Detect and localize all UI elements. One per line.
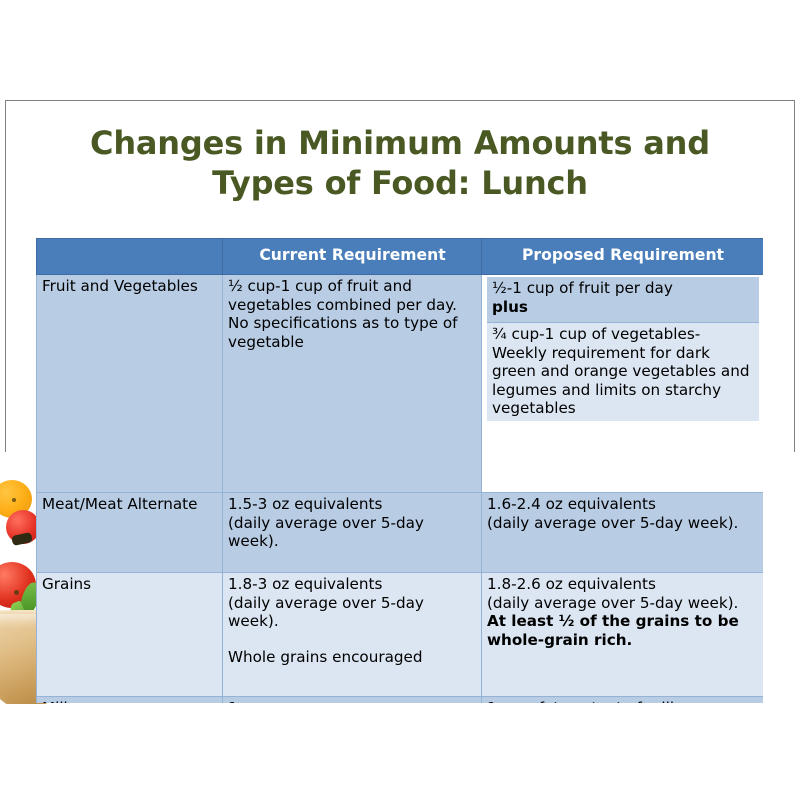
table-row: Grains 1.8-3 oz equivalents (daily avera… bbox=[37, 573, 764, 697]
requirements-table: Current Requirement Proposed Requirement… bbox=[36, 238, 763, 703]
cell-category-meat-alternate: Meat/Meat Alternate bbox=[37, 493, 223, 573]
cell-category-fruit-vegetables: Fruit and Vegetables bbox=[37, 275, 223, 493]
table-header-row: Current Requirement Proposed Requirement bbox=[37, 239, 764, 275]
proposed-fruit-top: ½-1 cup of fruit per day plus bbox=[487, 277, 759, 323]
page-title: Changes in Minimum Amounts and Types of … bbox=[40, 124, 760, 203]
slide-canvas: Changes in Minimum Amounts and Types of … bbox=[0, 0, 800, 800]
proposed-fruit-line1: ½-1 cup of fruit per day bbox=[492, 279, 755, 298]
cell-current-grains: 1.8-3 oz equivalents (daily average over… bbox=[223, 573, 482, 697]
proposed-grains-bold-note: At least ½ of the grains to be whole-gra… bbox=[487, 612, 759, 649]
table-row: Milk 1 cup 1 cup, fat content of milk bbox=[37, 697, 764, 704]
cell-proposed-fruit-vegetables: ½-1 cup of fruit per day plus ¾ cup-1 cu… bbox=[482, 275, 764, 493]
cell-category-grains: Grains bbox=[37, 573, 223, 697]
cell-current-milk: 1 cup bbox=[223, 697, 482, 704]
cell-proposed-milk: 1 cup, fat content of milk bbox=[482, 697, 764, 704]
cell-current-fruit-vegetables: ½ cup-1 cup of fruit and vegetables comb… bbox=[223, 275, 482, 493]
cell-current-meat-alternate: 1.5-3 oz equivalents (daily average over… bbox=[223, 493, 482, 573]
proposed-grains-main: 1.8-2.6 oz equivalents (daily average ov… bbox=[487, 575, 738, 612]
proposed-vegetables-detail: ¾ cup-1 cup of vegetables- Weekly requir… bbox=[487, 323, 759, 421]
table-row: Fruit and Vegetables ½ cup-1 cup of frui… bbox=[37, 275, 764, 493]
spacer-line bbox=[228, 631, 477, 648]
cell-category-milk: Milk bbox=[37, 697, 223, 704]
proposed-fruit-plus: plus bbox=[492, 298, 755, 317]
table-row: Meat/Meat Alternate 1.5-3 oz equivalents… bbox=[37, 493, 764, 573]
cell-proposed-grains: 1.8-2.6 oz equivalents (daily average ov… bbox=[482, 573, 764, 697]
requirements-table-container: Current Requirement Proposed Requirement… bbox=[36, 238, 763, 703]
cell-proposed-meat-alternate: 1.6-2.4 oz equivalents (daily average ov… bbox=[482, 493, 764, 573]
column-header-category bbox=[37, 239, 223, 275]
current-grains-main: 1.8-3 oz equivalents (daily average over… bbox=[228, 575, 424, 630]
current-grains-extra: Whole grains encouraged bbox=[228, 648, 423, 666]
column-header-proposed-requirement: Proposed Requirement bbox=[482, 239, 764, 275]
column-header-current-requirement: Current Requirement bbox=[223, 239, 482, 275]
